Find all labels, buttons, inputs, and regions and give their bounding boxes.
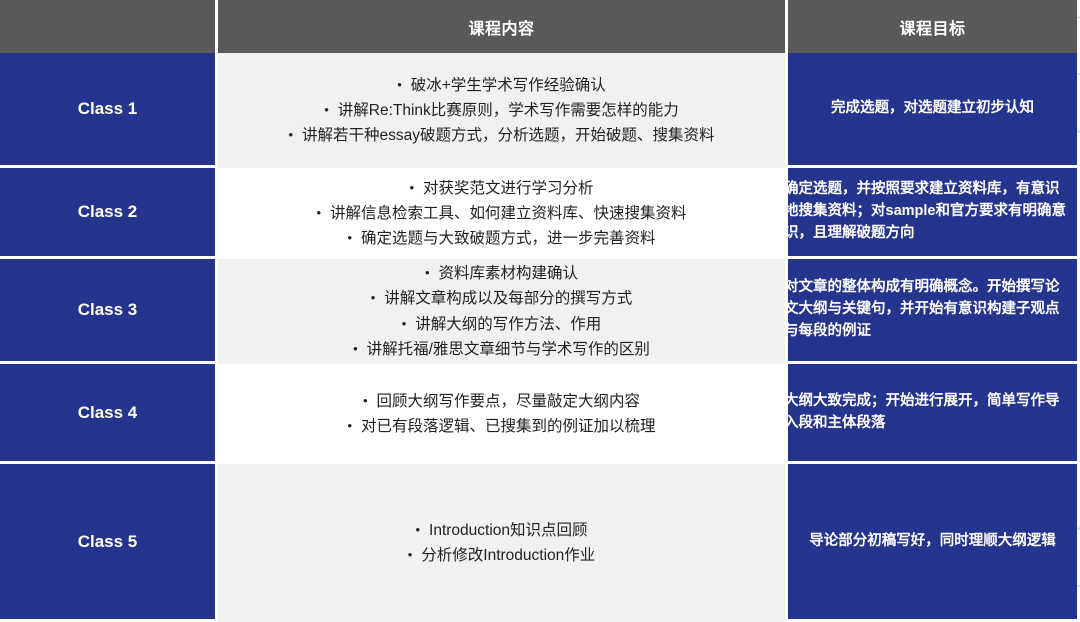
content-bullet-item: •讲解托福/雅思文章细节与学术写作的区别 <box>353 337 650 362</box>
table-header-row: 课程内容 课程目标 <box>0 0 1080 53</box>
course-schedule-table: 课程内容 课程目标 Class 1•破冰+学生学术写作经验确认•讲解Re:Thi… <box>0 0 1080 622</box>
content-bullet-text: 讲解信息检索工具、如何建立资料库、快速搜集资料 <box>330 201 687 226</box>
class-label-cell: Class 4 <box>0 364 218 464</box>
content-bullet-item: •讲解信息检索工具、如何建立资料库、快速搜集资料 <box>316 201 686 226</box>
course-goal-text: 导论部分初稿写好，同时理顺大纲逻辑 <box>788 531 1077 553</box>
course-goal-text: 对文章的整体构成有明确概念。开始撰写论 文大纲与关键句，并开始有意识构建子观点 … <box>784 277 1060 342</box>
class-label-cell: Class 3 <box>0 259 218 364</box>
content-bullet-item: •确定选题与大致破题方式，进一步完善资料 <box>347 226 655 251</box>
content-bullet-item: •破冰+学生学术写作经验确认 <box>397 73 606 98</box>
content-bullet-item: •资料库素材构建确认 <box>425 261 578 286</box>
bullet-dot-icon: • <box>408 548 413 561</box>
class-label: Class 5 <box>78 532 138 552</box>
course-content-cell: •资料库素材构建确认•讲解文章构成以及每部分的撰写方式•讲解大纲的写作方法、作用… <box>218 259 788 364</box>
header-cell-course-content: 课程内容 <box>218 0 788 53</box>
table-row: Class 5•Introduction知识点回顾•分析修改Introducti… <box>0 464 1080 622</box>
content-bullet-text: Introduction知识点回顾 <box>429 518 588 543</box>
course-content-cell: •对获奖范文进行学习分析•讲解信息检索工具、如何建立资料库、快速搜集资料•确定选… <box>218 168 788 259</box>
content-bullet-text: 资料库素材构建确认 <box>439 261 579 286</box>
bullet-dot-icon: • <box>347 231 352 244</box>
bullet-dot-icon: • <box>324 103 329 116</box>
class-label-cell: Class 1 <box>0 53 218 168</box>
bullet-dot-icon: • <box>371 291 376 304</box>
content-bullet-item: •讲解Re:Think比赛原则，学术写作需要怎样的能力 <box>324 98 679 123</box>
bullet-dot-icon: • <box>415 523 420 536</box>
table-row: Class 3•资料库素材构建确认•讲解文章构成以及每部分的撰写方式•讲解大纲的… <box>0 259 1080 364</box>
content-bullet-text: 讲解若干种essay破题方式，分析选题，开始破题、搜集资料 <box>302 123 715 148</box>
header-cell-course-goal: 课程目标 <box>788 0 1077 53</box>
bullet-dot-icon: • <box>402 317 407 330</box>
content-bullet-item: •Introduction知识点回顾 <box>415 518 587 543</box>
course-goal-text: 完成选题，对选题建立初步认知 <box>788 98 1077 120</box>
content-bullet-text: 讲解托福/雅思文章细节与学术写作的区别 <box>367 337 650 362</box>
content-bullet-text: 确定选题与大致破题方式，进一步完善资料 <box>361 226 656 251</box>
content-bullet-text: 对获奖范文进行学习分析 <box>423 176 594 201</box>
table-body: Class 1•破冰+学生学术写作经验确认•讲解Re:Think比赛原则，学术写… <box>0 53 1080 622</box>
course-goal-text: 大纲大致完成；开始进行展开，简单写作导 入段和主体段落 <box>784 391 1060 435</box>
bullet-dot-icon: • <box>288 128 293 141</box>
class-label: Class 4 <box>78 403 138 423</box>
course-goal-cell: 确定选题，并按照要求建立资料库，有意识 地搜集资料；对sample和官方要求有明… <box>788 168 1077 259</box>
class-label: Class 2 <box>78 202 138 222</box>
course-goal-cell: 对文章的整体构成有明确概念。开始撰写论 文大纲与关键句，并开始有意识构建子观点 … <box>788 259 1077 364</box>
class-label-cell: Class 5 <box>0 464 218 622</box>
bullet-dot-icon: • <box>316 206 321 219</box>
course-content-cell: •Introduction知识点回顾•分析修改Introduction作业 <box>218 464 788 622</box>
content-bullet-text: 回顾大纲写作要点，尽量敲定大纲内容 <box>377 389 641 414</box>
content-bullet-item: •分析修改Introduction作业 <box>408 543 596 568</box>
content-bullet-text: 讲解Re:Think比赛原则，学术写作需要怎样的能力 <box>338 98 679 123</box>
content-bullet-text: 讲解文章构成以及每部分的撰写方式 <box>384 286 632 311</box>
content-bullet-text: 破冰+学生学术写作经验确认 <box>411 73 606 98</box>
class-label: Class 3 <box>78 300 138 320</box>
bullet-dot-icon: • <box>425 266 430 279</box>
course-goal-text: 确定选题，并按照要求建立资料库，有意识 地搜集资料；对sample和官方要求有明… <box>784 179 1066 244</box>
bullet-dot-icon: • <box>353 342 358 355</box>
bullet-dot-icon: • <box>397 78 402 91</box>
bullet-dot-icon: • <box>409 181 414 194</box>
course-content-cell: •回顾大纲写作要点，尽量敲定大纲内容•对已有段落逻辑、已搜集到的例证加以梳理 <box>218 364 788 464</box>
content-bullet-item: •讲解若干种essay破题方式，分析选题，开始破题、搜集资料 <box>288 123 714 148</box>
course-goal-cell: 导论部分初稿写好，同时理顺大纲逻辑 <box>788 464 1077 622</box>
class-label-cell: Class 2 <box>0 168 218 259</box>
bullet-dot-icon: • <box>363 394 368 407</box>
content-bullet-text: 讲解大纲的写作方法、作用 <box>415 312 601 337</box>
header-cell-blank <box>0 0 218 53</box>
content-bullet-item: •讲解文章构成以及每部分的撰写方式 <box>371 286 633 311</box>
class-label: Class 1 <box>78 99 138 119</box>
table-row: Class 2•对获奖范文进行学习分析•讲解信息检索工具、如何建立资料库、快速搜… <box>0 168 1080 259</box>
content-bullet-text: 对已有段落逻辑、已搜集到的例证加以梳理 <box>361 414 656 439</box>
course-goal-cell: 大纲大致完成；开始进行展开，简单写作导 入段和主体段落 <box>788 364 1077 464</box>
course-content-cell: •破冰+学生学术写作经验确认•讲解Re:Think比赛原则，学术写作需要怎样的能… <box>218 53 788 168</box>
content-bullet-text: 分析修改Introduction作业 <box>421 543 595 568</box>
content-bullet-item: •对获奖范文进行学习分析 <box>409 176 593 201</box>
content-bullet-item: •对已有段落逻辑、已搜集到的例证加以梳理 <box>347 414 655 439</box>
content-bullet-item: •讲解大纲的写作方法、作用 <box>402 312 602 337</box>
bullet-dot-icon: • <box>347 419 352 432</box>
content-bullet-item: •回顾大纲写作要点，尽量敲定大纲内容 <box>363 389 640 414</box>
course-goal-cell: 完成选题，对选题建立初步认知 <box>788 53 1077 168</box>
table-row: Class 4•回顾大纲写作要点，尽量敲定大纲内容•对已有段落逻辑、已搜集到的例… <box>0 364 1080 464</box>
table-row: Class 1•破冰+学生学术写作经验确认•讲解Re:Think比赛原则，学术写… <box>0 53 1080 168</box>
